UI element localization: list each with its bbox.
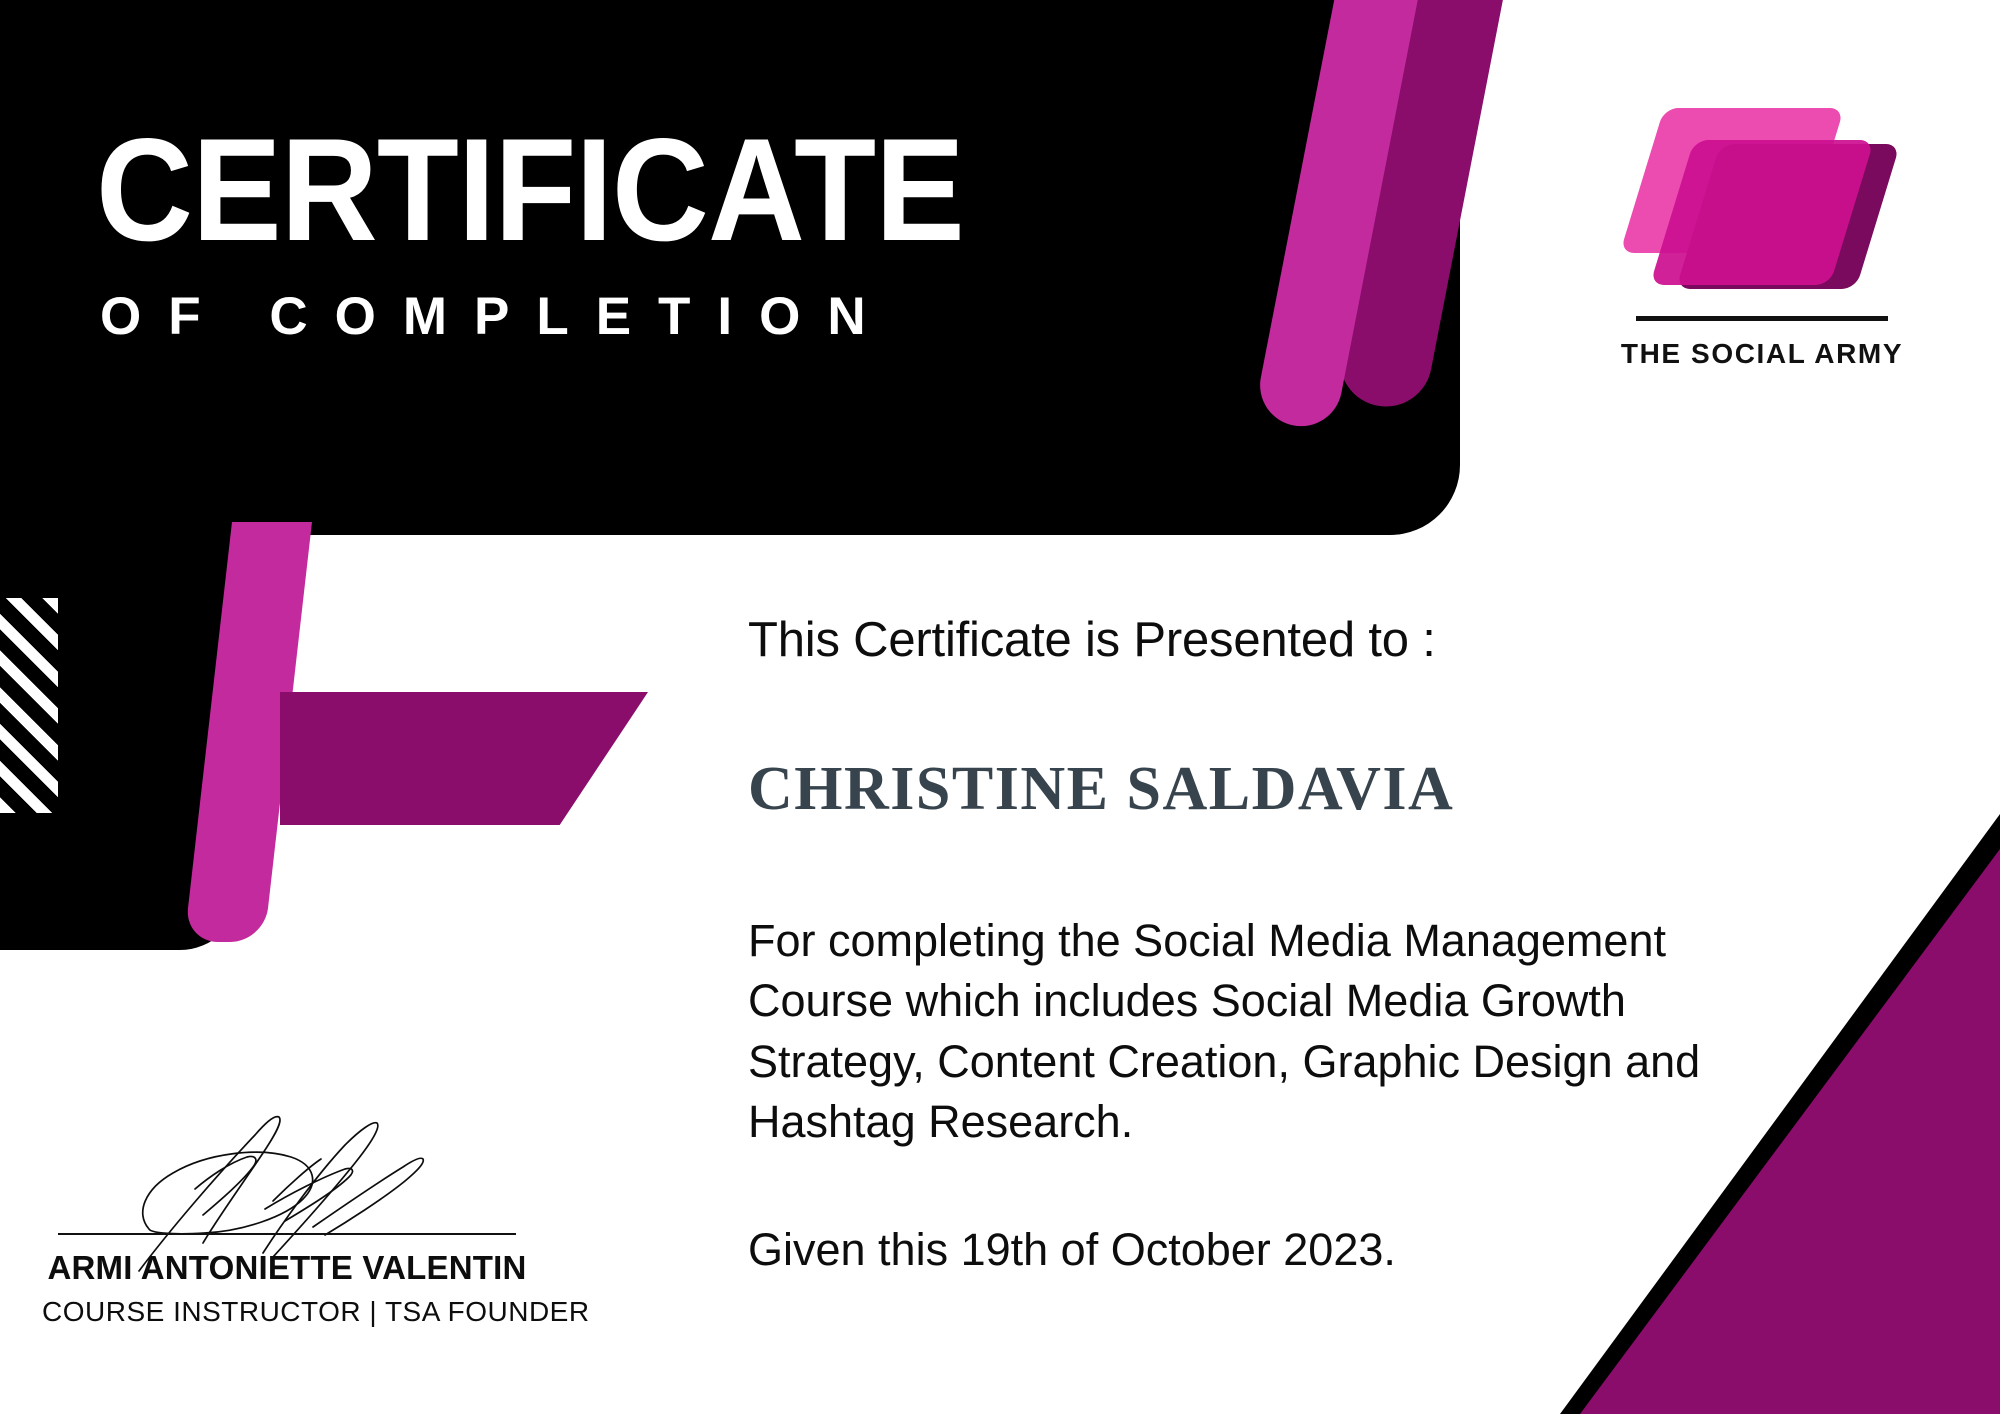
signatory-name: ARMI ANTONIETTE VALENTIN — [42, 1249, 532, 1287]
purple-banner — [280, 692, 648, 825]
signatory-role: COURSE INSTRUCTOR | TSA FOUNDER — [42, 1296, 532, 1328]
diagonal-stripe-block — [0, 598, 58, 813]
logo-divider — [1636, 316, 1888, 321]
recipient-name: CHRISTINE SALDAVIA — [748, 754, 1808, 825]
issue-date: Given this 19th of October 2023. — [748, 1224, 1808, 1276]
stacked-parallelograms-logo-icon — [1632, 96, 1892, 296]
certificate-canvas: CERTIFICATE OF COMPLETION THE SOCIAL ARM… — [0, 0, 2000, 1414]
page-subtitle: OF COMPLETION — [100, 286, 1039, 347]
page-title: CERTIFICATE — [96, 120, 964, 260]
brand-logo: THE SOCIAL ARMY — [1612, 96, 1912, 370]
brand-name: THE SOCIAL ARMY — [1612, 338, 1912, 370]
course-description: For completing the Social Media Manageme… — [748, 911, 1808, 1152]
certificate-body: This Certificate is Presented to : CHRIS… — [748, 612, 1808, 1276]
signature-line — [58, 1233, 516, 1235]
signature-block: ARMI ANTONIETTE VALENTIN COURSE INSTRUCT… — [42, 1105, 532, 1328]
certificate-title-block: CERTIFICATE OF COMPLETION — [96, 120, 1039, 347]
presented-to-label: This Certificate is Presented to : — [748, 612, 1808, 668]
